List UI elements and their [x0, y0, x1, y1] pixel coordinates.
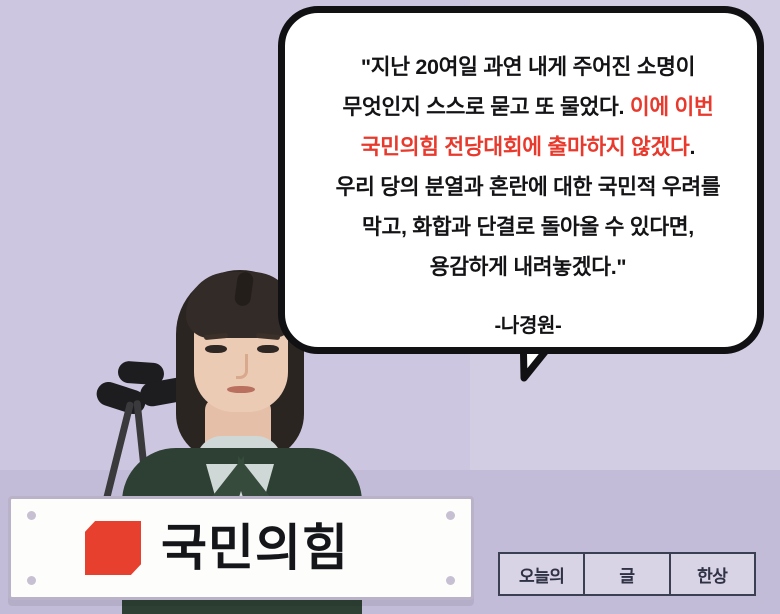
quote-line-2: 무엇인지 스스로 묻고 또 물었다. 이에 이번: [309, 87, 747, 127]
stamp-cell-3: 한상: [671, 554, 754, 594]
quote-line-1: "지난 20여일 과연 내게 주어진 소명이: [309, 47, 747, 87]
stamp-cell-2: 글: [585, 554, 670, 594]
eye-right: [257, 345, 279, 353]
quote-line-4: 우리 당의 분열과 혼란에 대한 국민적 우려를: [309, 167, 747, 207]
quote-text: "지난 20여일 과연 내게 주어진 소명이 무엇인지 스스로 묻고 또 물었다…: [309, 47, 747, 287]
podium-screw: [446, 576, 455, 585]
speech-bubble: "지난 20여일 과연 내게 주어진 소명이 무엇인지 스스로 묻고 또 물었다…: [278, 6, 764, 354]
podium-screw: [446, 511, 455, 520]
quote-attribution: -나경원-: [285, 309, 771, 338]
party-logo-icon: [85, 521, 141, 575]
podium: 국민의힘: [8, 496, 474, 600]
eye-left: [205, 345, 227, 353]
quote-line-5: 막고, 화합과 단결로 돌아올 수 있다면,: [309, 207, 747, 247]
mouth: [227, 386, 255, 393]
quote-line-6: 용감하게 내려놓겠다.": [309, 247, 747, 287]
podium-screw: [27, 511, 36, 520]
nose: [236, 354, 248, 379]
stamp-cell-1: 오늘의: [500, 554, 585, 594]
quote-line-3: 국민의힘 전당대회에 출마하지 않겠다.: [309, 127, 747, 167]
news-card: 국민의힘 "지난 20여일 과연 내게 주어진 소명이 무엇인지 스스로 묻고 …: [0, 0, 780, 614]
podium-screw: [27, 576, 36, 585]
party-logo-text: 국민의힘: [161, 519, 349, 577]
signature-stamp: 오늘의 글 한상: [498, 552, 756, 596]
